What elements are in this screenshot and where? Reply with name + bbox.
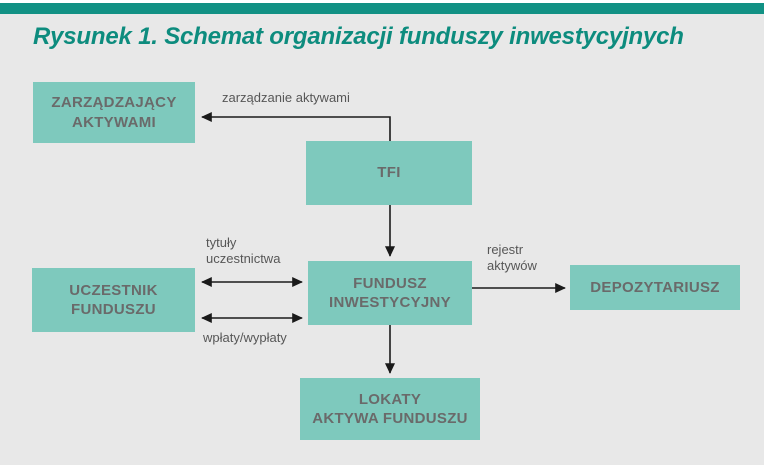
figure-container: Rysunek 1. Schemat organizacji funduszy … <box>0 0 764 465</box>
node-zarzadzajacy-aktywami[interactable]: ZARZĄDZAJĄCY AKTYWAMI <box>33 82 195 143</box>
org-diagram: ZARZĄDZAJĄCY AKTYWAMI TFI UCZESTNIK FUND… <box>0 60 764 465</box>
top-accent-rule <box>0 3 764 14</box>
node-tfi[interactable]: TFI <box>306 141 472 205</box>
edge-label-wplaty-wyplaty: wpłaty/wypłaty <box>203 330 343 346</box>
edge-label-zarzadzanie-aktywami: zarządzanie aktywami <box>222 90 452 106</box>
node-lokaty-aktywa-funduszu[interactable]: LOKATY AKTYWA FUNDUSZU <box>300 378 480 440</box>
node-depozytariusz[interactable]: DEPOZYTARIUSZ <box>570 265 740 310</box>
node-label: FUNDUSZ INWESTYCYJNY <box>329 274 451 312</box>
edge-label-tytuly-uczestnictwa: tytuły uczestnictwa <box>206 235 316 267</box>
node-label: ZARZĄDZAJĄCY AKTYWAMI <box>51 93 176 131</box>
edge-label-rejestr-aktywow: rejestr aktywów <box>487 242 577 274</box>
figure-title: Rysunek 1. Schemat organizacji funduszy … <box>33 20 733 54</box>
top-white-margin <box>0 0 764 3</box>
node-uczestnik-funduszu[interactable]: UCZESTNIK FUNDUSZU <box>32 268 195 332</box>
node-label: UCZESTNIK FUNDUSZU <box>69 281 158 319</box>
node-label: TFI <box>377 163 400 182</box>
node-fundusz-inwestycyjny[interactable]: FUNDUSZ INWESTYCYJNY <box>308 261 472 325</box>
edge-asset-management <box>202 117 390 141</box>
node-label: DEPOZYTARIUSZ <box>590 278 719 297</box>
node-label: LOKATY AKTYWA FUNDUSZU <box>312 390 468 428</box>
